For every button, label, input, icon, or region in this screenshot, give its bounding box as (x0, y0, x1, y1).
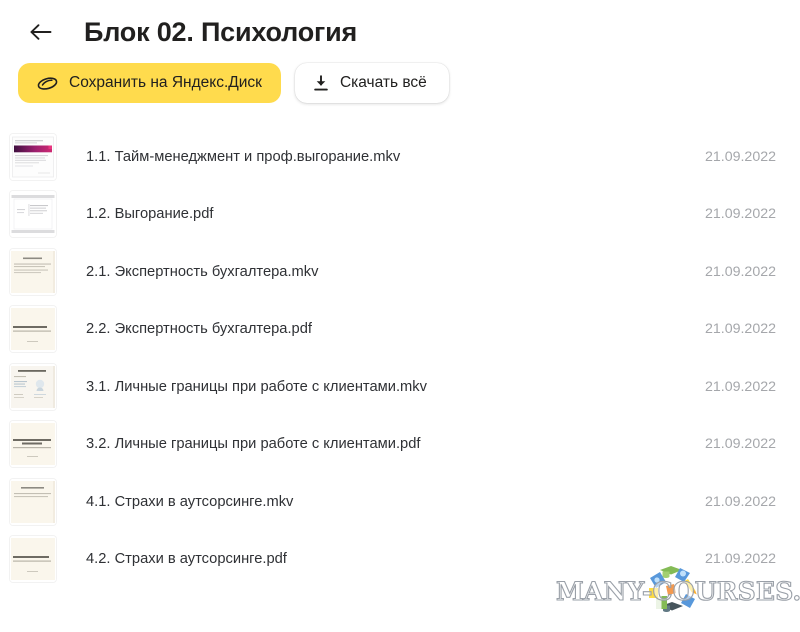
file-name: 3.2. Личные границы при работе с клиента… (66, 434, 666, 454)
download-all-label: Скачать всё (340, 75, 427, 91)
page-header: Блок 02. Психология (0, 0, 800, 44)
file-date: 21.09.2022 (666, 206, 776, 222)
file-row[interactable]: 4.1. Страхи в аутсорсинге.mkv 21.09.2022 (0, 473, 776, 531)
file-row[interactable]: 1.1. Тайм-менеджмент и проф.выгорание.mk… (0, 128, 776, 186)
thumbnail-doc-cream-title (10, 306, 56, 352)
arrow-left-icon (28, 22, 54, 42)
file-list: 1.1. Тайм-менеджмент и проф.выгорание.mk… (0, 128, 800, 588)
file-date: 21.09.2022 (666, 436, 776, 452)
file-name: 2.2. Экспертность бухгалтера.pdf (66, 319, 666, 339)
thumbnail-doc-cream-title-3 (10, 536, 56, 582)
file-date: 21.09.2022 (666, 494, 776, 510)
file-row[interactable]: 3.1. Личные границы при работе с клиента… (0, 358, 776, 416)
file-name: 4.1. Страхи в аутсорсинге.mkv (66, 492, 666, 512)
thumbnail-doc-cream-title-2 (10, 421, 56, 467)
action-toolbar: Сохранить на Яндекс.Диск Скачать всё (0, 44, 800, 103)
file-name: 4.2. Страхи в аутсорсинге.pdf (66, 549, 666, 569)
file-date: 21.09.2022 (666, 149, 776, 165)
file-thumbnail-cell (0, 421, 66, 467)
file-thumbnail-cell (0, 536, 66, 582)
thumbnail-slide-purple-banner (10, 134, 56, 180)
download-icon (313, 75, 329, 92)
file-name: 1.2. Выгорание.pdf (66, 204, 666, 224)
file-thumbnail-cell (0, 479, 66, 525)
save-to-yandex-disk-label: Сохранить на Яндекс.Диск (69, 75, 262, 91)
file-date: 21.09.2022 (666, 379, 776, 395)
thumbnail-slide-cream-heading-2 (10, 479, 56, 525)
file-row[interactable]: 1.2. Выгорание.pdf 21.09.2022 (0, 186, 776, 244)
thumbnail-doc-white-text (10, 191, 56, 237)
file-row[interactable]: 2.1. Экспертность бухгалтера.mkv 21.09.2… (0, 243, 776, 301)
yandex-disk-saucer-icon (37, 76, 58, 91)
file-row[interactable]: 4.2. Страхи в аутсорсинге.pdf 21.09.2022 (0, 531, 776, 589)
page-title: Блок 02. Психология (84, 16, 357, 48)
file-thumbnail-cell (0, 364, 66, 410)
file-thumbnail-cell (0, 249, 66, 295)
file-date: 21.09.2022 (666, 321, 776, 337)
file-thumbnail-cell (0, 134, 66, 180)
file-date: 21.09.2022 (666, 264, 776, 280)
file-row[interactable]: 2.2. Экспертность бухгалтера.pdf 21.09.2… (0, 301, 776, 359)
file-name: 2.1. Экспертность бухгалтера.mkv (66, 262, 666, 282)
thumbnail-slide-cream-figure (10, 364, 56, 410)
file-thumbnail-cell (0, 306, 66, 352)
file-thumbnail-cell (0, 191, 66, 237)
thumbnail-slide-cream-heading (10, 249, 56, 295)
download-all-button[interactable]: Скачать всё (295, 63, 449, 103)
file-name: 1.1. Тайм-менеджмент и проф.выгорание.mk… (66, 147, 666, 167)
back-button[interactable] (24, 15, 58, 49)
file-name: 3.1. Личные границы при работе с клиента… (66, 377, 666, 397)
save-to-yandex-disk-button[interactable]: Сохранить на Яндекс.Диск (18, 63, 281, 103)
file-row[interactable]: 3.2. Личные границы при работе с клиента… (0, 416, 776, 474)
file-date: 21.09.2022 (666, 551, 776, 567)
